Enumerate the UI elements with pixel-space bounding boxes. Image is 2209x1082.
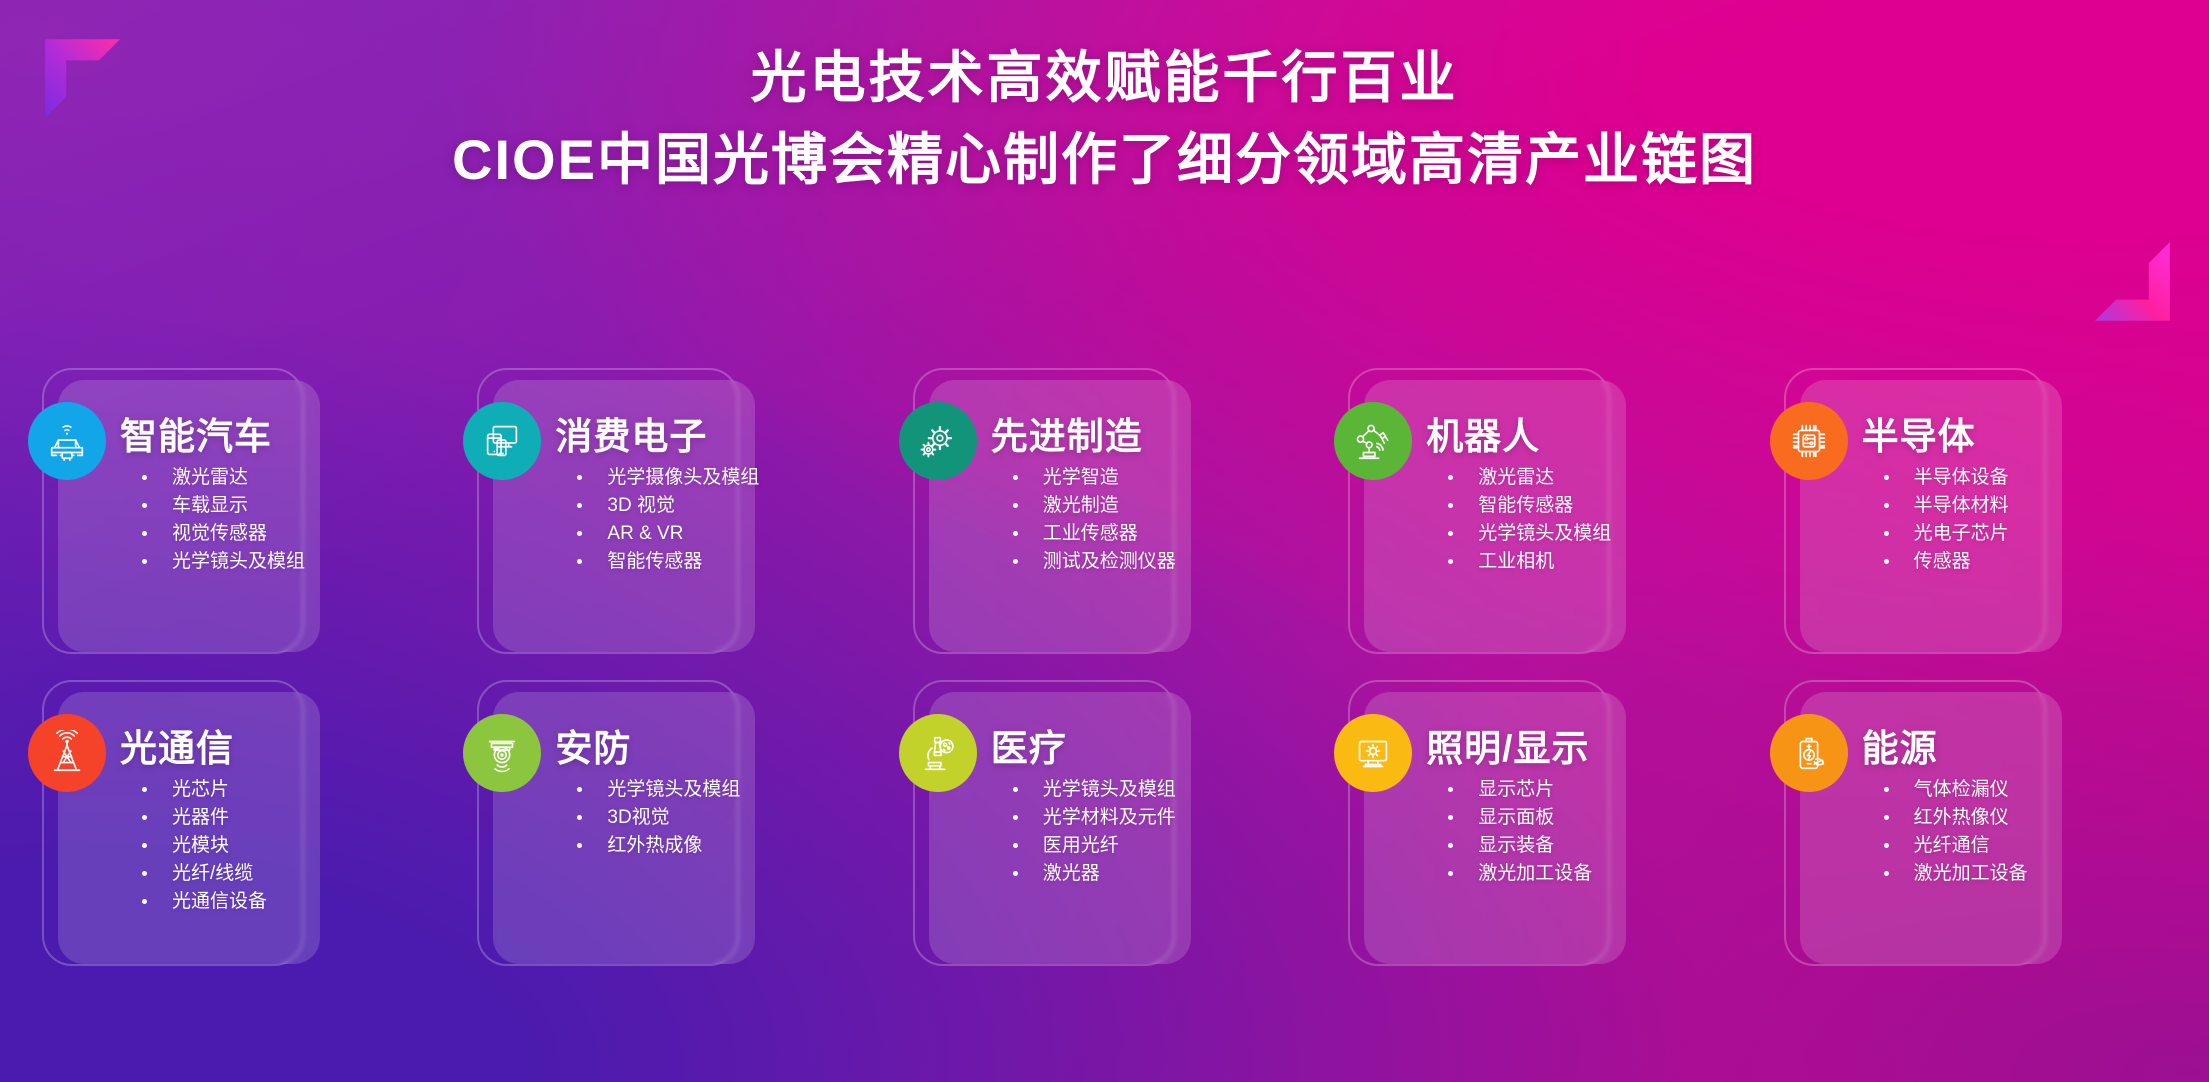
list-item: 光芯片 <box>140 776 267 804</box>
list-item: 半导体设备 <box>1882 464 2009 492</box>
list-item: 半导体材料 <box>1882 492 2009 520</box>
list-item: 医用光纤 <box>1011 832 1176 860</box>
list-item: 激光制造 <box>1011 492 1176 520</box>
industry-card[interactable]: 照明/显示显示芯片显示面板显示装备激光加工设备 <box>1334 692 1745 982</box>
card-title: 光通信 <box>120 718 234 772</box>
industry-card[interactable]: 半导体半导体设备半导体材料光电子芯片传感器 <box>1770 380 2181 670</box>
list-item: 气体检漏仪 <box>1882 776 2028 804</box>
card-title: 医疗 <box>991 718 1067 772</box>
list-item: 激光加工设备 <box>1882 860 2028 888</box>
list-item: 光电子芯片 <box>1882 520 2009 548</box>
page-header: 光电技术高效赋能千行百业 CIOE中国光博会精心制作了细分领域高清产业链图 <box>0 44 2209 195</box>
industry-card[interactable]: 医疗光学镜头及模组光学材料及元件医用光纤激光器 <box>899 692 1310 982</box>
card-item-list: 光学镜头及模组3D视觉红外热成像 <box>575 776 740 860</box>
card-item-list: 半导体设备半导体材料光电子芯片传感器 <box>1882 464 2009 576</box>
list-item: 激光加工设备 <box>1446 860 1592 888</box>
display-monitor-icon <box>1334 714 1412 792</box>
list-item: 3D 视觉 <box>575 492 759 520</box>
list-item: 光通信设备 <box>140 888 267 916</box>
card-item-list: 激光雷达智能传感器光学镜头及模组工业相机 <box>1446 464 1611 576</box>
list-item: 智能传感器 <box>575 548 759 576</box>
card-title: 先进制造 <box>991 406 1143 460</box>
list-item: 激光雷达 <box>140 464 305 492</box>
list-item: 激光雷达 <box>1446 464 1611 492</box>
list-item: 视觉传感器 <box>140 520 305 548</box>
card-item-list: 光芯片光器件光模块光纤/线缆光通信设备 <box>140 776 267 916</box>
industry-card[interactable]: 机器人激光雷达智能传感器光学镜头及模组工业相机 <box>1334 380 1745 670</box>
page-title-line-2: CIOE中国光博会精心制作了细分领域高清产业链图 <box>0 126 2209 194</box>
industry-card[interactable]: 光通信光芯片光器件光模块光纤/线缆光通信设备 <box>28 692 439 982</box>
list-item: 光学智造 <box>1011 464 1176 492</box>
industry-card[interactable]: 智能汽车激光雷达车载显示视觉传感器光学镜头及模组 <box>28 380 439 670</box>
list-item: 工业传感器 <box>1011 520 1176 548</box>
list-item: 显示装备 <box>1446 832 1592 860</box>
list-item: 光纤通信 <box>1882 832 2028 860</box>
list-item: 光学摄像头及模组 <box>575 464 759 492</box>
list-item: 红外热成像 <box>575 832 740 860</box>
corner-bracket-icon <box>2095 242 2191 338</box>
list-item: 光器件 <box>140 804 267 832</box>
card-title: 照明/显示 <box>1426 718 1589 772</box>
card-title: 能源 <box>1862 718 1938 772</box>
chip-icon <box>1770 402 1848 480</box>
industry-card[interactable]: 消费电子光学摄像头及模组3D 视觉AR & VR智能传感器 <box>463 380 874 670</box>
smart-car-icon <box>28 402 106 480</box>
card-title: 消费电子 <box>555 406 707 460</box>
robot-arm-icon <box>1334 402 1412 480</box>
devices-icon <box>463 402 541 480</box>
list-item: 激光器 <box>1011 860 1176 888</box>
list-item: 3D视觉 <box>575 804 740 832</box>
gears-icon <box>899 402 977 480</box>
industry-card[interactable]: 安防光学镜头及模组3D视觉红外热成像 <box>463 692 874 982</box>
cctv-camera-icon <box>463 714 541 792</box>
list-item: 光学材料及元件 <box>1011 804 1176 832</box>
card-item-list: 光学智造激光制造工业传感器测试及检测仪器 <box>1011 464 1176 576</box>
industry-card[interactable]: 能源气体检漏仪红外热像仪光纤通信激光加工设备 <box>1770 692 2181 982</box>
card-item-list: 光学摄像头及模组3D 视觉AR & VR智能传感器 <box>575 464 759 576</box>
list-item: 光学镜头及模组 <box>575 776 740 804</box>
list-item: 红外热像仪 <box>1882 804 2028 832</box>
card-item-list: 光学镜头及模组光学材料及元件医用光纤激光器 <box>1011 776 1176 888</box>
list-item: 车载显示 <box>140 492 305 520</box>
card-item-list: 激光雷达车载显示视觉传感器光学镜头及模组 <box>140 464 305 576</box>
card-title: 机器人 <box>1426 406 1540 460</box>
list-item: 智能传感器 <box>1446 492 1611 520</box>
card-item-list: 气体检漏仪红外热像仪光纤通信激光加工设备 <box>1882 776 2028 888</box>
list-item: 显示芯片 <box>1446 776 1592 804</box>
industry-card-grid: 智能汽车激光雷达车载显示视觉传感器光学镜头及模组消费电子光学摄像头及模组3D 视… <box>28 380 2181 982</box>
list-item: 光学镜头及模组 <box>140 548 305 576</box>
antenna-tower-icon <box>28 714 106 792</box>
page-title-line-1: 光电技术高效赋能千行百业 <box>0 44 2209 112</box>
list-item: 工业相机 <box>1446 548 1611 576</box>
card-title: 智能汽车 <box>120 406 272 460</box>
list-item: 光学镜头及模组 <box>1446 520 1611 548</box>
microscope-icon <box>899 714 977 792</box>
card-item-list: 显示芯片显示面板显示装备激光加工设备 <box>1446 776 1592 888</box>
card-title: 安防 <box>555 718 631 772</box>
list-item: 光纤/线缆 <box>140 860 267 888</box>
list-item: 光模块 <box>140 832 267 860</box>
list-item: AR & VR <box>575 520 759 548</box>
list-item: 显示面板 <box>1446 804 1592 832</box>
industry-card[interactable]: 先进制造光学智造激光制造工业传感器测试及检测仪器 <box>899 380 1310 670</box>
list-item: 光学镜头及模组 <box>1011 776 1176 804</box>
list-item: 测试及检测仪器 <box>1011 548 1176 576</box>
battery-leaf-icon <box>1770 714 1848 792</box>
card-title: 半导体 <box>1862 406 1976 460</box>
list-item: 传感器 <box>1882 548 2009 576</box>
